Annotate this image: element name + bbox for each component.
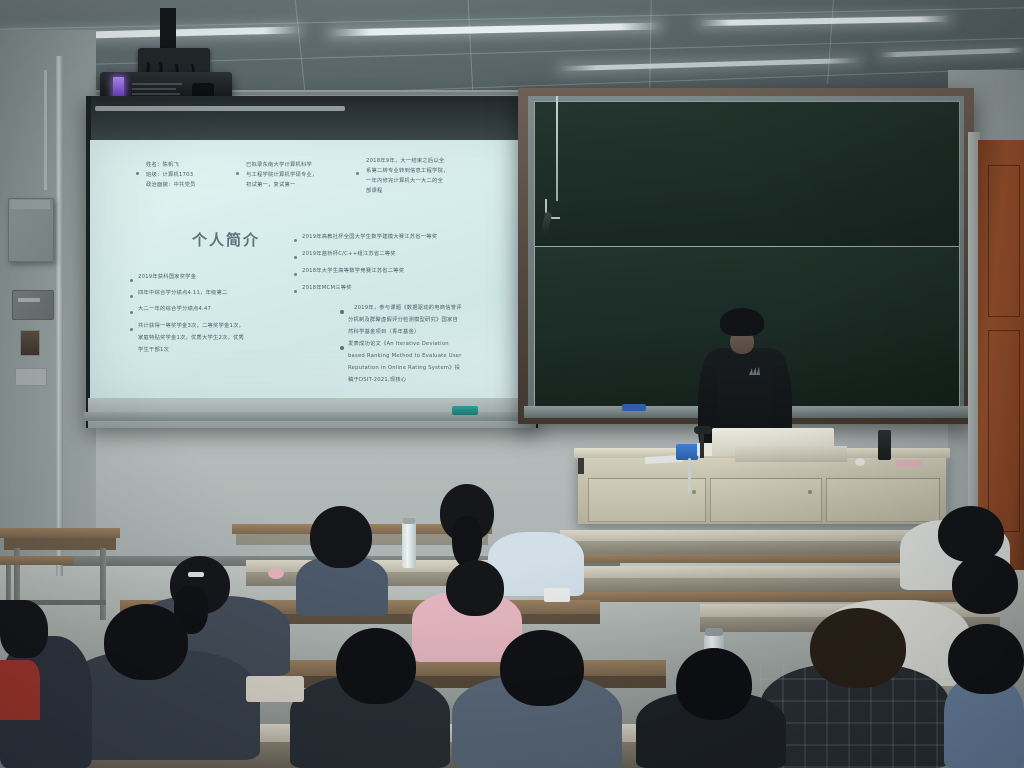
slide-paper-line-4: 稿于DSIT-2021,现核心 (348, 377, 406, 385)
student-head (938, 506, 1004, 562)
slide-admission-line-3: 初试第一，复试第一 (246, 182, 295, 190)
student-head (446, 560, 504, 616)
empty-desk-top[interactable] (0, 528, 120, 538)
slide-project-line-3: 然科学基金项目（青年基金） (348, 329, 419, 337)
slide-paper-line-3: Reputation in Online Rating System》投 (348, 365, 460, 373)
podium-cabinet-knob[interactable] (808, 490, 812, 494)
slide-bullet (136, 172, 139, 175)
slide-award-3: 2018年大学生高等数学竞赛江苏省二等奖 (302, 268, 404, 276)
slide-left-item-3: 大二一年的综合学分绩点4.47 (138, 306, 211, 314)
projection-screen-roller (95, 106, 345, 111)
tissue-pack[interactable] (544, 588, 570, 602)
slide-bullet (236, 172, 239, 175)
slide-title: 个人简介 (192, 230, 260, 252)
electrical-box-upper-lid (10, 200, 50, 209)
classroom-photo-scene: 姓名：陈帆飞 班级：计算机1703 政治面貌：中共党员 已拟录东南大学计算机科学… (0, 0, 1024, 768)
slide-bullet (340, 346, 344, 350)
slide-admission-line-1: 已拟录东南大学计算机科学 (246, 162, 312, 170)
desk-leg (100, 548, 106, 620)
chalkboard-upper-panel[interactable] (534, 101, 960, 255)
student-head (676, 648, 752, 720)
slide-bullet (356, 172, 359, 175)
slide-identity-line-2: 班级：计算机1703 (146, 172, 193, 180)
wall-pipe-thin (44, 70, 47, 190)
wall-switch-plate[interactable] (15, 368, 47, 386)
podium-side-bracket (578, 458, 584, 474)
slide-transfer-line-4: 部课程 (366, 188, 383, 196)
podium-cabinet-door[interactable] (826, 478, 940, 522)
student-head (948, 624, 1024, 694)
student-head (104, 604, 188, 680)
student-head (336, 628, 416, 704)
pink-item-on-podium[interactable] (896, 460, 922, 467)
student-head (0, 600, 48, 658)
wall-socket[interactable] (20, 330, 40, 356)
podium-cabinet-knob[interactable] (692, 490, 696, 494)
chalkboard-eraser[interactable] (622, 404, 646, 411)
slide-bullet (130, 295, 133, 298)
slide-left-item-1: 2019年获科国家奖学金 (138, 274, 196, 282)
slide-bullet (294, 290, 297, 293)
slide-bullet (340, 310, 344, 314)
slide-bullet (130, 328, 133, 331)
student-head (952, 554, 1018, 614)
hair-clip-icon (188, 572, 204, 577)
blue-box-on-podium[interactable] (676, 444, 698, 460)
student-jacket-accent (0, 660, 40, 720)
student-head (310, 506, 372, 568)
water-bottle[interactable] (402, 522, 416, 568)
student-head (810, 608, 906, 688)
bench-row-top (560, 530, 960, 541)
podium-cabinet-door[interactable] (710, 478, 822, 522)
whiteboard-eraser[interactable] (452, 406, 478, 415)
podium-equipment-lower (735, 446, 847, 462)
microphone-stand[interactable] (700, 432, 704, 458)
projection-screen-top-band (88, 98, 536, 142)
slide-transfer-line-2: 系第二转专业转到信息工程学院， (366, 168, 448, 176)
microphone-icon[interactable] (694, 426, 712, 434)
pink-item-on-desk[interactable] (268, 568, 284, 579)
student-head (500, 630, 584, 706)
slide-left-item-6: 学生干部1次 (138, 347, 169, 355)
slide-transfer-line-1: 2018年9年，大一结束之后以全 (366, 158, 444, 166)
door-panel (988, 165, 1020, 317)
slide-identity-line-1: 姓名：陈帆飞 (146, 162, 179, 170)
presentation-slide: 姓名：陈帆飞 班级：计算机1703 政治面貌：中共党员 已拟录东南大学计算机科学… (90, 140, 534, 398)
slide-left-item-5: 家庭特贴奖学金1次，优质大学生2次，优秀 (138, 335, 244, 343)
slide-left-item-4: 共计获得一等奖学金3次，二等奖学金1次， (138, 323, 244, 331)
slide-bullet (294, 273, 297, 276)
jacket-logo-icon (748, 366, 761, 376)
water-bottle-cap (705, 628, 723, 636)
slide-project-line-1: 2019年，参与课题《数据驱动的电商信誉评 (354, 305, 462, 313)
electrical-box-lower (12, 290, 54, 320)
slide-left-item-2: 四年中综合学分绩点4.11，年级第二 (138, 290, 228, 298)
slide-project-line-2: 分机制及群聚虚假评分检测模型研究》国家自 (348, 317, 458, 325)
slide-paper-line-2: based Ranking Method to Evaluate User (348, 353, 462, 361)
electrical-box-label (18, 298, 40, 302)
slide-bullet (294, 256, 297, 259)
chalkboard-pull-cord[interactable] (556, 96, 558, 201)
presenter-hair (720, 308, 764, 336)
empty-desk-top[interactable] (0, 556, 74, 565)
slide-award-1: 2019年高教社杯全国大学生数学建模大赛江苏省一等奖 (302, 234, 437, 242)
desk-item-white[interactable] (246, 676, 304, 702)
wall-pipe (56, 56, 63, 576)
black-device-on-podium[interactable] (878, 430, 891, 460)
door-panel (988, 330, 1020, 532)
slide-bullet (130, 279, 133, 282)
slide-paper-line-1: 发表成功论文《An Iterative Deviation (348, 341, 449, 349)
cable (688, 458, 691, 492)
small-white-object[interactable] (855, 458, 865, 466)
slide-bullet (130, 311, 133, 314)
slide-award-4: 2018年MCM三等奖 (302, 285, 352, 293)
slide-bullet (294, 239, 297, 242)
water-bottle-cap (403, 518, 415, 524)
slide-identity-line-3: 政治面貌：中共党员 (146, 182, 195, 190)
slide-admission-line-2: 与工程学院计算机学硕专业， (246, 172, 317, 180)
slide-transfer-line-3: 一年内修完计算机大一大二的全 (366, 178, 443, 186)
slide-award-2: 2019年蓝桥杯C/C++组江苏省二等奖 (302, 251, 396, 259)
